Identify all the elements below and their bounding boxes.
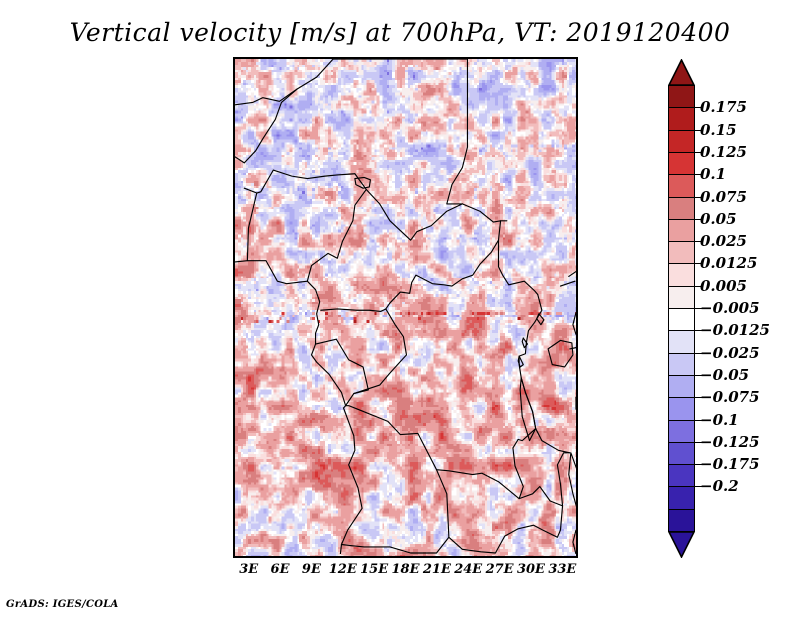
colorbar-segment	[668, 375, 695, 399]
colorbar-label: −0.025	[700, 344, 760, 362]
y-axis-tick	[233, 218, 235, 219]
colorbar-label: −0.05	[700, 366, 749, 384]
x-axis-tick	[376, 556, 377, 558]
x-axis-tick	[470, 556, 471, 558]
colorbar-segment	[668, 85, 695, 109]
country-borders-overlay	[235, 59, 576, 554]
plot-root: Vertical velocity [m/s] at 700hPa, VT: 2…	[0, 0, 800, 618]
colorbar-label: 0.15	[700, 121, 737, 139]
y-axis-tick	[233, 401, 235, 402]
x-axis-tick	[502, 556, 503, 558]
x-axis-tick	[408, 556, 409, 558]
x-axis-tick	[282, 556, 283, 558]
colorbar-segment	[668, 219, 695, 243]
y-axis-tick	[233, 523, 235, 524]
colorbar-segment	[668, 420, 695, 444]
colorbar-segment	[668, 330, 695, 354]
colorbar-segment	[668, 241, 695, 265]
colorbar-segment	[668, 197, 695, 221]
colorbar-segment	[668, 397, 695, 421]
colorbar-label: −0.005	[700, 299, 760, 317]
colorbar-segment	[668, 308, 695, 332]
colorbar-label: −0.175	[700, 455, 760, 473]
x-axis-tick	[345, 556, 346, 558]
colorbar-label: 0.125	[700, 143, 747, 161]
colorbar-segment	[668, 464, 695, 488]
y-axis-tick	[233, 462, 235, 463]
colorbar-label: 0.005	[700, 277, 747, 295]
colorbar-segment	[668, 174, 695, 198]
colorbar-label: −0.1	[700, 411, 739, 429]
page-title: Vertical velocity [m/s] at 700hPa, VT: 2…	[0, 18, 800, 47]
colorbar-segment	[668, 152, 695, 176]
credit-text: GrADS: IGES/COLA	[6, 599, 119, 610]
colorbar-label: −0.2	[700, 477, 739, 495]
x-axis-tick	[439, 556, 440, 558]
colorbar	[668, 85, 695, 531]
colorbar-segment	[668, 107, 695, 131]
colorbar-label: −0.125	[700, 433, 760, 451]
colorbar-label: 0.05	[700, 210, 737, 228]
x-axis-tick	[564, 556, 565, 558]
colorbar-segment	[668, 442, 695, 466]
colorbar-label: 0.0125	[700, 254, 757, 272]
colorbar-segment	[668, 286, 695, 310]
x-axis-tick	[533, 556, 534, 558]
y-axis-tick	[233, 96, 235, 97]
colorbar-segment	[668, 486, 695, 510]
colorbar-segment	[668, 263, 695, 287]
colorbar-extend-max-arrow	[668, 59, 695, 86]
colorbar-label: 0.175	[700, 98, 747, 116]
colorbar-label: 0.1	[700, 165, 726, 183]
colorbar-label: 0.025	[700, 232, 747, 250]
colorbar-label: 0.075	[700, 188, 747, 206]
colorbar-label: −0.075	[700, 388, 760, 406]
y-axis-tick	[233, 279, 235, 280]
colorbar-extend-min-arrow	[668, 531, 695, 558]
x-axis-label-33e: 33E	[540, 562, 584, 577]
colorbar-label: −0.0125	[700, 321, 770, 339]
x-axis-tick	[251, 556, 252, 558]
y-axis-tick	[233, 340, 235, 341]
x-axis-tick	[313, 556, 314, 558]
map-plot-area	[233, 57, 578, 558]
y-axis-tick	[233, 157, 235, 158]
colorbar-segment	[668, 353, 695, 377]
colorbar-segment	[668, 130, 695, 154]
colorbar-segment	[668, 509, 695, 533]
